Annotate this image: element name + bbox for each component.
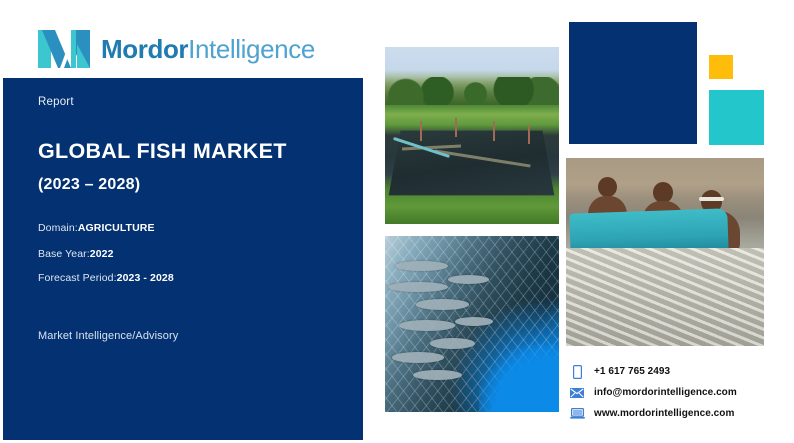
fish-shape bbox=[413, 370, 462, 381]
contact-email-row[interactable]: info@mordorintelligence.com bbox=[569, 383, 784, 402]
report-cover-page: MordorIntelligence Report GLOBAL FISH MA… bbox=[0, 0, 794, 443]
meta-forecast-period: Forecast Period:2023 - 2028 bbox=[38, 272, 174, 284]
fish-shape bbox=[448, 275, 490, 284]
underwater-net-pen-fish-photo bbox=[385, 236, 559, 412]
envelope-icon bbox=[569, 385, 585, 401]
fish-shape bbox=[416, 299, 468, 310]
fish-catch-pile bbox=[566, 248, 764, 346]
fish-shape bbox=[392, 352, 444, 363]
navy-color-block bbox=[569, 22, 697, 144]
phone-icon bbox=[569, 364, 585, 380]
teal-color-block bbox=[709, 90, 764, 145]
contact-website-text: www.mordorintelligence.com bbox=[594, 408, 734, 419]
meta-forecast-label: Forecast Period: bbox=[38, 272, 117, 284]
pond-post bbox=[528, 125, 530, 144]
fish-shape bbox=[430, 338, 475, 349]
fisherman-head bbox=[598, 177, 618, 198]
brand-name-light: Intelligence bbox=[188, 34, 315, 64]
brand-wordmark: MordorIntelligence bbox=[101, 36, 315, 62]
page-title: GLOBAL FISH MARKET bbox=[38, 140, 287, 164]
meta-domain-label: Domain: bbox=[38, 222, 78, 234]
contact-phone-row[interactable]: +1 617 765 2493 bbox=[569, 362, 784, 381]
pond-treeline bbox=[385, 77, 559, 105]
fish-shape bbox=[388, 282, 447, 293]
meta-domain: Domain:AGRICULTURE bbox=[38, 222, 155, 234]
meta-base-year-label: Base Year: bbox=[38, 248, 90, 260]
meta-domain-value: AGRICULTURE bbox=[78, 222, 155, 234]
mordor-m-logo-icon bbox=[38, 30, 90, 68]
contact-block: +1 617 765 2493 info@mordorintelligence.… bbox=[569, 362, 784, 425]
laptop-icon bbox=[569, 406, 585, 422]
pond-post bbox=[420, 121, 422, 140]
meta-forecast-value: 2023 - 2028 bbox=[117, 272, 174, 284]
fish-shape bbox=[399, 320, 455, 331]
report-period-subtitle: (2023 – 2028) bbox=[38, 176, 140, 194]
brand-name-bold: Mordor bbox=[101, 34, 188, 64]
brand-logo[interactable]: MordorIntelligence bbox=[38, 26, 315, 72]
contact-website-row[interactable]: www.mordorintelligence.com bbox=[569, 404, 784, 423]
fish-shape bbox=[455, 317, 493, 326]
meta-base-year-value: 2022 bbox=[90, 248, 114, 260]
report-tagline: Market Intelligence/Advisory bbox=[38, 330, 178, 342]
contact-email-text: info@mordorintelligence.com bbox=[594, 387, 737, 398]
fisherman-headband bbox=[699, 197, 725, 201]
pond-water bbox=[389, 130, 555, 195]
yellow-color-block bbox=[709, 55, 733, 79]
open-water-glow bbox=[479, 345, 559, 412]
fisherman-head bbox=[653, 182, 673, 203]
fish-shape bbox=[395, 261, 447, 272]
pond-post bbox=[455, 118, 457, 137]
meta-base-year: Base Year:2022 bbox=[38, 248, 114, 260]
fishermen-hauling-net-photo bbox=[566, 158, 764, 346]
pond-post bbox=[493, 121, 495, 140]
fish-farm-ponds-photo bbox=[385, 47, 559, 224]
report-kicker: Report bbox=[38, 96, 74, 108]
contact-phone-text: +1 617 765 2493 bbox=[594, 366, 670, 377]
